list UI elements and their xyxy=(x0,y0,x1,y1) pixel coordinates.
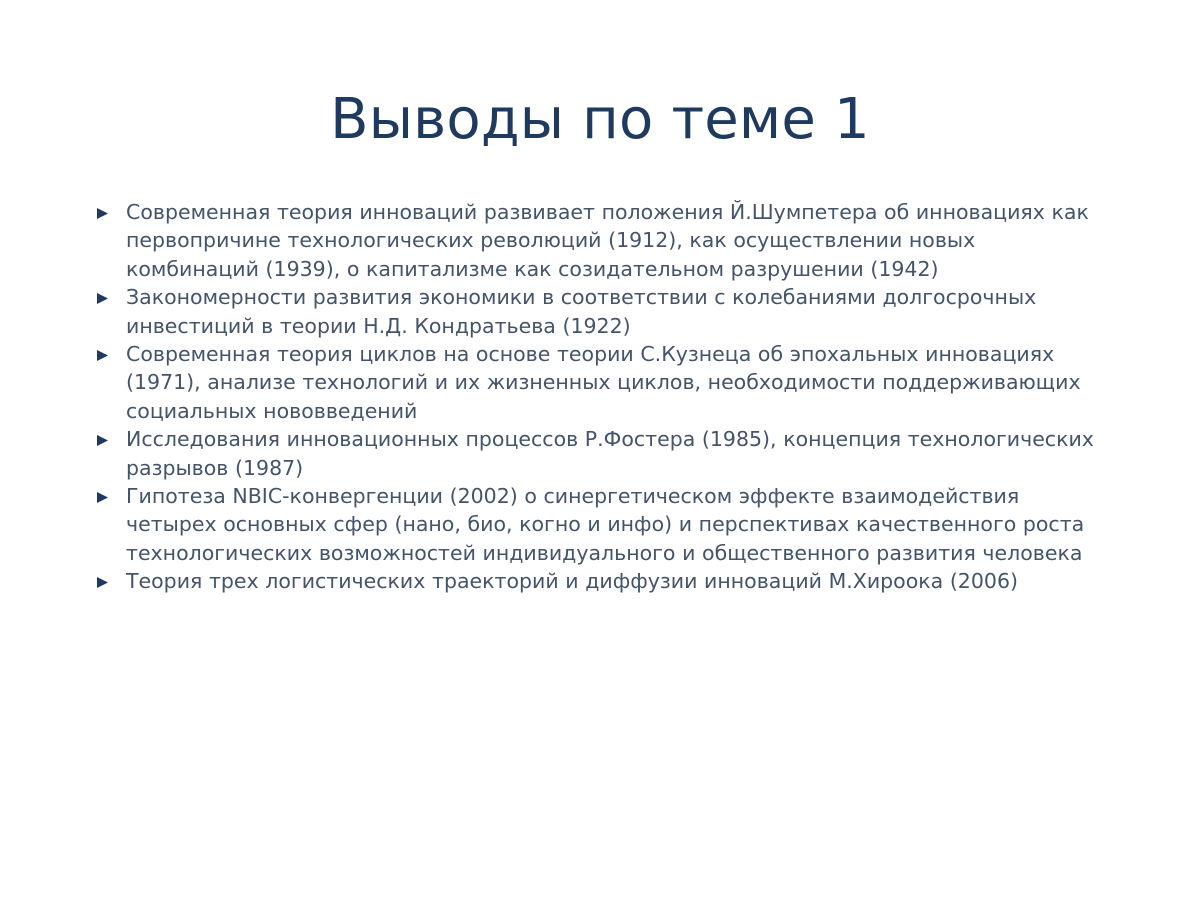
slide-body: Современная теория инноваций развивает п… xyxy=(92,198,1114,596)
list-item-label: Современная теория инноваций развивает п… xyxy=(126,198,1114,283)
triangle-right-icon xyxy=(96,567,114,595)
list-item-label: Современная теория циклов на основе теор… xyxy=(126,340,1114,425)
list-item: Гипотеза NBIC-конвергенции (2002) о сине… xyxy=(92,482,1114,567)
list-item-label: Теория трех логистических траекторий и д… xyxy=(126,567,1114,595)
list-item-label: Закономерности развития экономики в соот… xyxy=(126,283,1114,340)
triangle-right-icon xyxy=(96,482,114,510)
list-item: Современная теория циклов на основе теор… xyxy=(92,340,1114,425)
list-item-label: Исследования инновационных процессов Р.Ф… xyxy=(126,425,1114,482)
list-item: Исследования инновационных процессов Р.Ф… xyxy=(92,425,1114,482)
triangle-right-icon xyxy=(96,283,114,311)
bullet-list: Современная теория инноваций развивает п… xyxy=(92,198,1114,596)
list-item: Закономерности развития экономики в соот… xyxy=(92,283,1114,340)
slide: Выводы по теме 1 Современная теория инно… xyxy=(0,0,1200,900)
page-title: Выводы по теме 1 xyxy=(80,88,1120,152)
list-item: Теория трех логистических траекторий и д… xyxy=(92,567,1114,595)
triangle-right-icon xyxy=(96,340,114,368)
list-item: Современная теория инноваций развивает п… xyxy=(92,198,1114,283)
triangle-right-icon xyxy=(96,198,114,226)
list-item-label: Гипотеза NBIC-конвергенции (2002) о сине… xyxy=(126,482,1114,567)
triangle-right-icon xyxy=(96,425,114,453)
